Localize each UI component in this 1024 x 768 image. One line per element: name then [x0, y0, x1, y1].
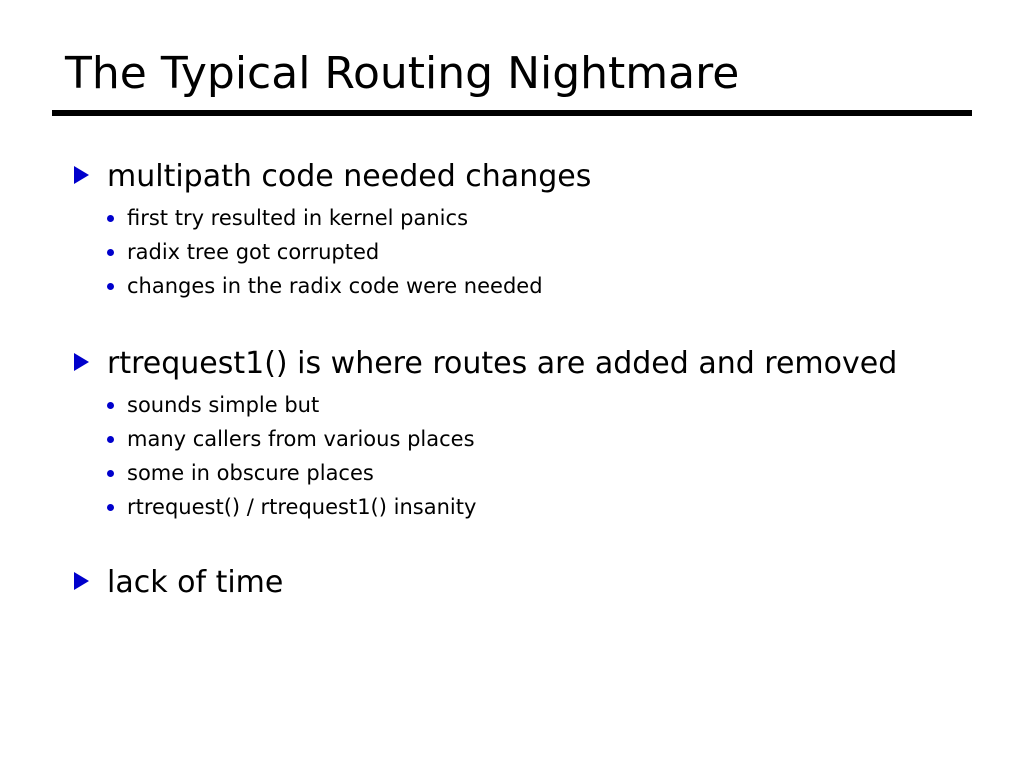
bullet-level1-text: rtrequest1() is where routes are added a…	[107, 346, 897, 381]
list-item: first try resulted in kernel panics	[107, 201, 1024, 235]
group-spacer	[0, 524, 1024, 558]
triangle-right-bullet-icon	[74, 572, 89, 590]
list-item: changes in the radix code were needed	[107, 269, 1024, 303]
title-block: The Typical Routing Nightmare	[52, 48, 972, 116]
list-item: many callers from various places	[107, 422, 1024, 456]
list-item: rtrequest1() is where routes are added a…	[0, 339, 1024, 524]
bullet-level3-text: some in obscure places	[127, 461, 374, 485]
bullet-level2-text: first try resulted in kernel panics	[127, 206, 468, 230]
dot-bullet-icon	[107, 402, 114, 409]
title-divider	[52, 110, 972, 116]
bullet-level2-text: changes in the radix code were needed	[127, 274, 543, 298]
bullet-level1-text: multipath code needed changes	[107, 159, 591, 194]
bullet-level3-text: many callers from various places	[127, 427, 475, 451]
dot-bullet-icon	[107, 436, 114, 443]
list-item: radix tree got corrupted	[107, 235, 1024, 269]
list-item: some in obscure places	[107, 456, 1024, 490]
list-item: sounds simple but	[107, 388, 1024, 422]
list-item: rtrequest() / rtrequest1() insanity	[107, 490, 1024, 524]
sublist-level2: first try resulted in kernel panics radi…	[107, 201, 1024, 303]
outline-list: multipath code needed changes first try …	[0, 152, 1024, 607]
dot-bullet-icon	[107, 215, 114, 222]
dot-bullet-icon	[107, 470, 114, 477]
group-spacer	[0, 303, 1024, 339]
bullet-level2-text: sounds simple but	[127, 393, 319, 417]
sublist-level2: sounds simple but	[107, 388, 1024, 422]
bullet-level2-text: radix tree got corrupted	[127, 240, 379, 264]
bullet-level1-text: lack of time	[107, 565, 283, 600]
sublist-level3: many callers from various places some in…	[107, 422, 1024, 524]
slide-body: multipath code needed changes first try …	[0, 152, 1024, 607]
dot-bullet-icon	[107, 283, 114, 290]
dot-bullet-icon	[107, 504, 114, 511]
triangle-right-bullet-icon	[74, 353, 89, 371]
list-item: lack of time	[0, 558, 1024, 607]
bullet-level3-text: rtrequest() / rtrequest1() insanity	[127, 495, 476, 519]
triangle-right-bullet-icon	[74, 166, 89, 184]
list-item: multipath code needed changes first try …	[0, 152, 1024, 303]
slide: The Typical Routing Nightmare multipath …	[0, 0, 1024, 768]
dot-bullet-icon	[107, 249, 114, 256]
page-title: The Typical Routing Nightmare	[52, 48, 972, 100]
